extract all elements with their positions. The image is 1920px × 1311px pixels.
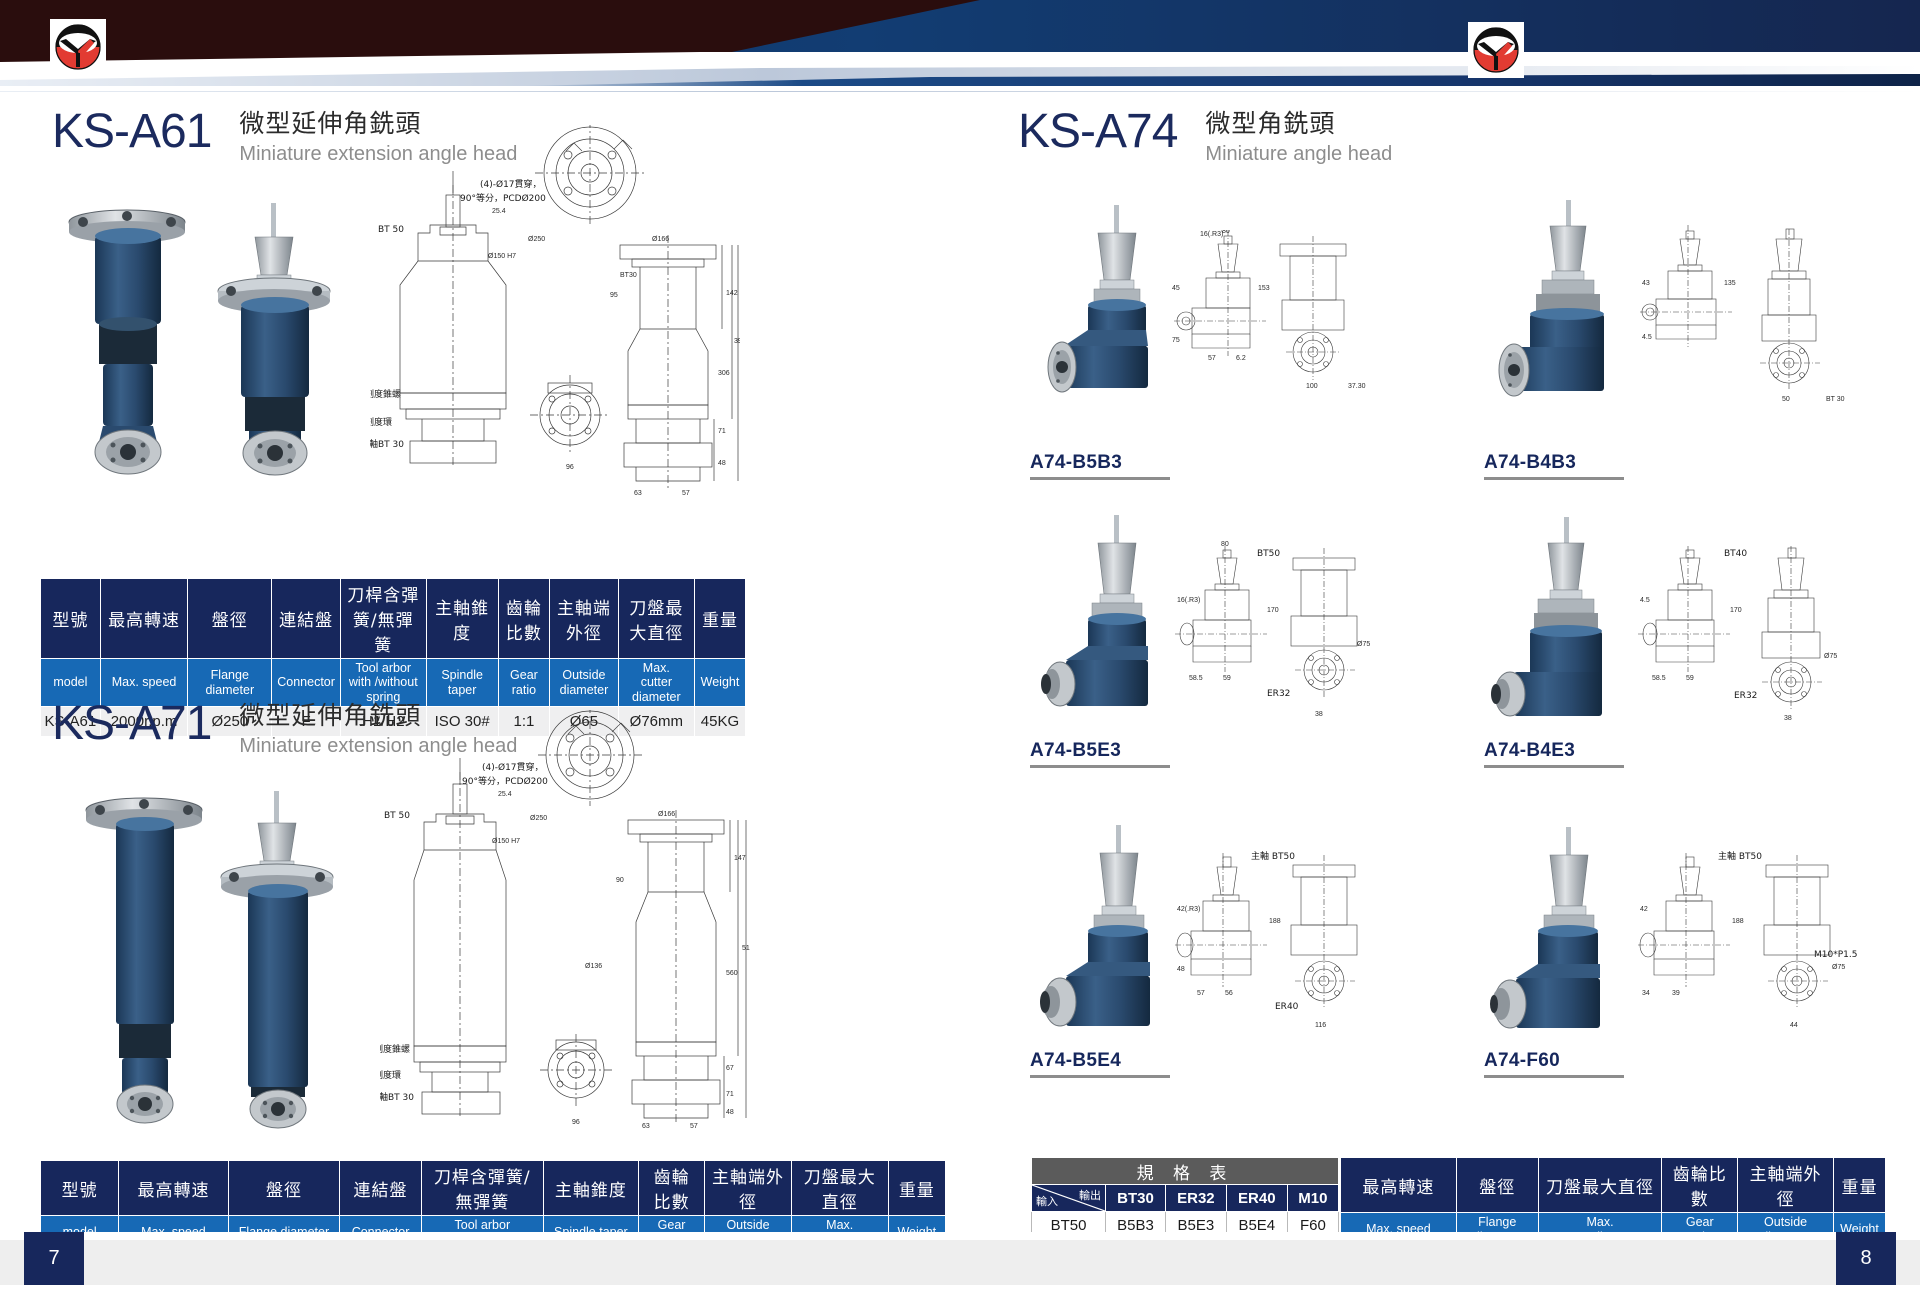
- th-cn-speed: 最高轉速: [119, 1161, 228, 1216]
- drawing-note-spindle-bt50: 主軸 BT50: [1251, 850, 1295, 862]
- th-cn-taper: 主軸錐度: [426, 579, 498, 659]
- page-banner: [0, 0, 1920, 92]
- drawing-note-spindle-bt30: 主軸BT 30: [380, 1091, 414, 1103]
- drawing-note-spindle-bt30: 主軸BT 30: [370, 438, 404, 450]
- variant-drawing-b4e3: BT40 ER32 170 4.5 58.5 59 38 Ø75: [1638, 540, 1878, 730]
- dim-44: 44: [1790, 1022, 1798, 1029]
- variant-drawing-b5b3: 16(.R3) 80 153 45 75 57 6.2 100 37.30: [1170, 230, 1370, 410]
- dim-56: 56: [1225, 990, 1233, 997]
- label-underline: [1030, 765, 1170, 768]
- dim-390: 390: [734, 338, 740, 345]
- variant-label-text: A74-B4B3: [1484, 452, 1576, 473]
- dim-80: 80: [1221, 541, 1229, 548]
- dim-d250: Ø250: [528, 236, 545, 243]
- matrix-header-row: 輸出 輸入 BT30 ER32 ER40 M10: [1032, 1185, 1339, 1212]
- drawing-note-er40: ER40: [1275, 1002, 1299, 1012]
- dim-147: 147: [734, 855, 746, 862]
- th-cn-cutter: 刀盤最大直徑: [1538, 1158, 1662, 1213]
- dim-142: 142: [726, 290, 738, 297]
- product-name-en: Miniature angle head: [1205, 142, 1392, 166]
- dim-42: 42: [1640, 906, 1648, 913]
- page-number-left: 7: [24, 1232, 84, 1285]
- th-cn-weight: 重量: [1833, 1158, 1885, 1213]
- dim-57: 57: [1197, 990, 1205, 997]
- dim-306: 306: [718, 370, 730, 377]
- label-underline: [1484, 477, 1624, 480]
- dim-16r3: 16(.R3): [1177, 597, 1200, 604]
- drawing-note-bt50: BT 50: [378, 225, 404, 235]
- dim-57: 57: [682, 490, 690, 497]
- th-cn-arbor: 刀桿含彈簧/無彈簧: [340, 579, 426, 659]
- th-en-cutter: Max. cutter diameter: [618, 659, 694, 707]
- dim-100: 100: [1306, 383, 1318, 390]
- drawing-note-bt50: BT50: [1257, 549, 1280, 559]
- variant-label-text: A74-B5E3: [1030, 740, 1121, 761]
- dim-d136: Ø136: [585, 963, 602, 970]
- product-code: KS-A61: [52, 108, 211, 156]
- matrix-corner-input: 輸入: [1036, 1193, 1058, 1209]
- matrix-col-er32: ER32: [1165, 1185, 1226, 1212]
- variant-drawing-b4b3: 135 43 4.5 50 BT 30: [1640, 225, 1880, 410]
- matrix-corner-output: 輸出: [1079, 1187, 1101, 1203]
- th-cn-speed: 最高轉速: [100, 579, 188, 659]
- company-circle-logo: [50, 19, 106, 75]
- dim-48: 48: [718, 460, 726, 467]
- dim-50: 50: [1782, 396, 1790, 403]
- dim-38: 38: [1315, 711, 1323, 718]
- technical-drawing-a61: (4)-Ø17貫穿， 90°等分，PCDØ200 BT 50 刻度錐螺 刻度環 …: [370, 125, 740, 525]
- variant-photo-b4e3: [1478, 512, 1648, 757]
- th-cn-connector: 連結盤: [272, 579, 341, 659]
- dim-135: 135: [1724, 280, 1736, 287]
- dim-48: 48: [726, 1109, 734, 1116]
- dim-d166: Ø166: [652, 236, 669, 243]
- product-photo-a71-side: [198, 785, 368, 1140]
- table-row-header-cn: 型號 最高轉速 盤徑 連結盤 刀桿含彈簧/無彈簧 主軸錐度 齒輪比數 主軸端外徑…: [41, 579, 746, 659]
- page-number-right: 8: [1836, 1232, 1896, 1285]
- th-cn-flange: 盤徑: [1456, 1158, 1538, 1213]
- dim-170: 170: [1267, 607, 1279, 614]
- variant-photo-f60: [1480, 822, 1650, 1077]
- dim-d150h7: Ø150 H7: [492, 838, 520, 845]
- drawing-note-pcd: 90°等分，PCDØ200: [460, 192, 546, 204]
- label-underline: [1484, 765, 1624, 768]
- dim-45: 4.5: [1642, 334, 1652, 341]
- table-row-header-cn: 型號 最高轉速 盤徑 連結盤 刀桿含彈簧/無彈簧 主軸錐度 齒輪比數 主軸端外徑…: [41, 1161, 946, 1216]
- product-photo-a61-side: [195, 195, 365, 490]
- variant-label-b5b3: A74-B5B3: [1030, 452, 1170, 480]
- matrix-col-er40: ER40: [1226, 1185, 1287, 1212]
- table-row-header-cn: 最高轉速 盤徑 刀盤最大直徑 齒輪比數 主軸端外徑 重量: [1341, 1158, 1886, 1213]
- product-name-cn: 微型角銑頭: [1205, 110, 1392, 139]
- product-code: KS-A71: [52, 700, 211, 748]
- catalog-page: KS-A61 微型延伸角銑頭 Miniature extension angle…: [0, 0, 1920, 1311]
- th-cn-speed: 最高轉速: [1341, 1158, 1457, 1213]
- variant-photo-b5b3: [1030, 200, 1190, 435]
- footer-white-band: [0, 1285, 1920, 1311]
- variant-label-b5e3: A74-B5E3: [1030, 740, 1170, 768]
- drawing-note-scale-screw: 刻度錐螺: [380, 1043, 410, 1055]
- th-cn-outside: 主軸端外徑: [1738, 1158, 1834, 1213]
- dim-59: 59: [1686, 675, 1694, 682]
- dim-254: 25.4: [498, 791, 512, 798]
- variant-label-f60: A74-F60: [1484, 1050, 1624, 1078]
- dim-188: 188: [1269, 918, 1281, 925]
- label-underline: [1030, 477, 1170, 480]
- banner-baseline: [0, 86, 1920, 91]
- dim-34: 34: [1642, 990, 1650, 997]
- th-cn-outside: 主軸端外徑: [705, 1161, 792, 1216]
- technical-drawing-a71: (4)-Ø17貫穿， 90°等分，PCDØ200 BT 50 刻度錐螺 刻度環 …: [380, 710, 750, 1130]
- th-en-outside: Outside diameter: [550, 659, 619, 707]
- dim-254: 25.4: [492, 208, 506, 215]
- dim-45: 45: [1172, 285, 1180, 292]
- variant-drawing-f60: 主軸 BT50 M10*P1.5 188 42 34 39 44 Ø75: [1638, 845, 1878, 1040]
- dim-515: 515: [742, 945, 750, 952]
- matrix-corner-cell: 輸出 輸入: [1032, 1185, 1106, 1212]
- dim-bt30: BT30: [620, 272, 637, 279]
- drawing-note-scale-ring: 刻度環: [380, 1069, 401, 1081]
- dim-71: 71: [718, 428, 726, 435]
- footer-gray-band: [0, 1240, 1920, 1285]
- th-cn-cutter: 刀盤最大直徑: [618, 579, 694, 659]
- drawing-note-scale-screw: 刻度錐螺: [370, 388, 401, 400]
- dim-116: 116: [1315, 1022, 1326, 1029]
- th-cn-arbor: 刀桿含彈簧/無彈簧: [421, 1161, 543, 1216]
- variant-photo-b5e3: [1030, 510, 1195, 755]
- variant-drawing-b5e3: BT50 ER32 80 170 16(.R3) 58.5 59 38 Ø75: [1175, 540, 1380, 730]
- dim-96: 96: [566, 464, 574, 471]
- variant-label-b5e4: A74-B5E4: [1030, 1050, 1170, 1078]
- matrix-title: 規 格 表: [1032, 1158, 1339, 1185]
- product-code: KS-A74: [1018, 108, 1177, 156]
- company-circle-logo-right: [1468, 22, 1524, 78]
- dim-d75: Ø75: [1824, 653, 1837, 660]
- drawing-note-m10: M10*P1.5: [1814, 950, 1857, 960]
- dim-d75: Ø75: [1832, 964, 1845, 971]
- drawing-note-er32: ER32: [1734, 691, 1757, 701]
- variant-drawing-b5e4: 主軸 BT50 ER40 188 42(.R3) 48 57 56 116: [1175, 845, 1380, 1040]
- dim-59: 59: [1223, 675, 1231, 682]
- th-cn-model: 型號: [41, 579, 101, 659]
- dim-d75: Ø75: [1357, 641, 1370, 648]
- dim-63: 63: [642, 1123, 650, 1130]
- variant-label-text: A74-F60: [1484, 1050, 1560, 1071]
- dim-45: 4.5: [1640, 597, 1650, 604]
- th-cn-flange: 盤徑: [228, 1161, 340, 1216]
- th-cn-model: 型號: [41, 1161, 119, 1216]
- drawing-note-er32: ER32: [1267, 689, 1290, 699]
- th-cn-flange: 盤徑: [188, 579, 272, 659]
- drawing-note-scale-ring: 刻度環: [370, 416, 392, 428]
- dim-39: 39: [1672, 990, 1680, 997]
- dim-96: 96: [572, 1119, 580, 1126]
- dim-48: 48: [1177, 966, 1185, 973]
- dim-585: 58.5: [1652, 675, 1666, 682]
- dim-80: 80: [1222, 230, 1230, 235]
- drawing-note-spindle-bt50: 主軸 BT50: [1718, 850, 1762, 862]
- drawing-note-holes: (4)-Ø17貫穿，: [480, 178, 542, 190]
- dim-d150h7: Ø150 H7: [488, 253, 516, 260]
- dim-bt30: BT 30: [1826, 396, 1845, 403]
- drawing-note-bt50: BT 50: [384, 811, 410, 821]
- th-cn-gear: 齒輪比數: [1662, 1158, 1738, 1213]
- th-cn-connector: 連結盤: [340, 1161, 421, 1216]
- dim-d250: Ø250: [530, 815, 547, 822]
- th-cn-cutter: 刀盤最大直徑: [791, 1161, 888, 1216]
- label-underline: [1484, 1075, 1624, 1078]
- product-heading-a74: KS-A74 微型角銑頭 Miniature angle head: [1018, 108, 1392, 166]
- label-underline: [1030, 1075, 1170, 1078]
- dim-43: 43: [1642, 280, 1650, 287]
- matrix-col-bt30: BT30: [1106, 1185, 1166, 1212]
- th-cn-gear: 齒輪比數: [638, 1161, 704, 1216]
- variant-photo-b4b3: [1480, 195, 1645, 435]
- dim-57: 57: [690, 1123, 698, 1130]
- dim-bt30: 37.30: [1348, 383, 1366, 390]
- variant-label-b4b3: A74-B4B3: [1484, 452, 1624, 480]
- dim-170: 170: [1730, 607, 1742, 614]
- variant-label-text: A74-B5E4: [1030, 1050, 1121, 1071]
- drawing-note-pcd: 90°等分，PCDØ200: [462, 775, 548, 787]
- drawing-note-holes: (4)-Ø17貫穿，: [482, 761, 544, 773]
- dim-67: 67: [726, 1065, 734, 1072]
- variant-label-text: A74-B5B3: [1030, 452, 1122, 473]
- th-en-weight: Weight: [694, 659, 745, 707]
- dim-71: 71: [726, 1091, 734, 1098]
- dim-d166: Ø166: [658, 811, 675, 818]
- dim-153: 153: [1258, 285, 1270, 292]
- variant-label-b4e3: A74-B4E3: [1484, 740, 1624, 768]
- matrix-title-row: 規 格 表: [1032, 1158, 1339, 1185]
- th-cn-weight: 重量: [694, 579, 745, 659]
- dim-560: 560: [726, 970, 738, 977]
- dim-188: 188: [1732, 918, 1744, 925]
- dim-63: 63: [634, 490, 642, 497]
- dim-585: 58.5: [1189, 675, 1203, 682]
- drawing-note-bt40: BT40: [1724, 549, 1747, 559]
- th-cn-gear: 齒輪比數: [498, 579, 549, 659]
- dim-62: 6.2: [1236, 355, 1246, 362]
- dim-95: 95: [610, 292, 618, 299]
- dim-42r3: 42(.R3): [1177, 906, 1200, 913]
- dim-75: 75: [1172, 337, 1180, 344]
- th-cn-weight: 重量: [888, 1161, 945, 1216]
- th-cn-outside: 主軸端外徑: [550, 579, 619, 659]
- dim-57: 57: [1208, 355, 1216, 362]
- th-cn-taper: 主軸錐度: [543, 1161, 638, 1216]
- dim-3750: 16(.R3): [1200, 231, 1223, 238]
- dim-90: 90: [616, 877, 624, 884]
- matrix-col-m10: M10: [1287, 1185, 1338, 1212]
- dim-38: 38: [1784, 715, 1792, 722]
- variant-label-text: A74-B4E3: [1484, 740, 1575, 761]
